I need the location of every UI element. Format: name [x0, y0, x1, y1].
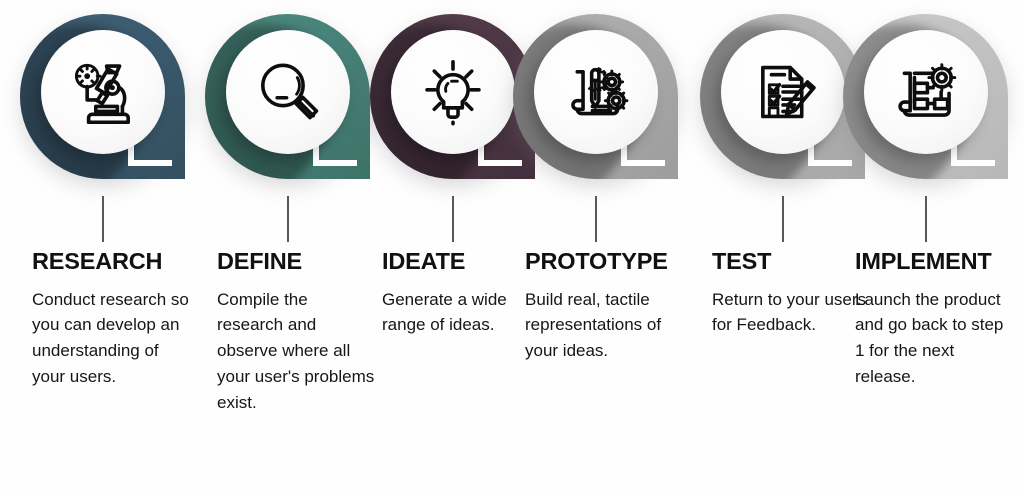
step-description: Build real, tactile representations of y… — [525, 287, 685, 364]
step-badge-test[interactable] — [700, 14, 865, 179]
design-thinking-infographic: RESEARCH Conduct research so you can dev… — [0, 0, 1024, 493]
step-text-block: RESEARCH Conduct research so you can dev… — [32, 250, 192, 390]
step-prototype: PROTOTYPE Build real, tactile representa… — [513, 0, 678, 493]
icon-circle — [721, 30, 845, 154]
step-text-block: PROTOTYPE Build real, tactile representa… — [525, 250, 685, 364]
step-title: PROTOTYPE — [525, 250, 685, 274]
step-title: DEFINE — [217, 250, 377, 274]
magnifying-glass-icon — [252, 56, 324, 128]
icon-circle — [391, 30, 515, 154]
connector-line — [782, 196, 784, 242]
step-text-block: IMPLEMENT Launch the product and go back… — [855, 250, 1015, 390]
blueprint-pencil-gears-icon — [560, 56, 632, 128]
microscope-icon — [67, 56, 139, 128]
step-badge-define[interactable] — [205, 14, 370, 179]
blueprint-flowchart-gear-icon — [890, 56, 962, 128]
lightbulb-icon — [417, 56, 489, 128]
connector-line — [102, 196, 104, 242]
step-description: Compile the research and observe where a… — [217, 287, 377, 416]
step-define: DEFINE Compile the research and observe … — [205, 0, 370, 493]
step-title: IMPLEMENT — [855, 250, 1015, 274]
connector-line — [925, 196, 927, 242]
step-description: Launch the product and go back to step 1… — [855, 287, 1015, 390]
step-badge-research[interactable] — [20, 14, 185, 179]
step-test: TEST Return to your users for Feedback. — [700, 0, 865, 493]
step-ideate: IDEATE Generate a wide range of ideas. — [370, 0, 535, 493]
connector-line — [287, 196, 289, 242]
step-implement: IMPLEMENT Launch the product and go back… — [843, 0, 1008, 493]
icon-circle — [534, 30, 658, 154]
step-text-block: DEFINE Compile the research and observe … — [217, 250, 377, 416]
connector-line — [452, 196, 454, 242]
icon-circle — [864, 30, 988, 154]
step-badge-prototype[interactable] — [513, 14, 678, 179]
icon-circle — [41, 30, 165, 154]
connector-line — [595, 196, 597, 242]
step-research: RESEARCH Conduct research so you can dev… — [20, 0, 185, 493]
step-description: Conduct research so you can develop an u… — [32, 287, 192, 390]
step-badge-ideate[interactable] — [370, 14, 535, 179]
step-badge-implement[interactable] — [843, 14, 1008, 179]
checklist-pencil-icon — [747, 56, 819, 128]
step-title: RESEARCH — [32, 250, 192, 274]
icon-circle — [226, 30, 350, 154]
